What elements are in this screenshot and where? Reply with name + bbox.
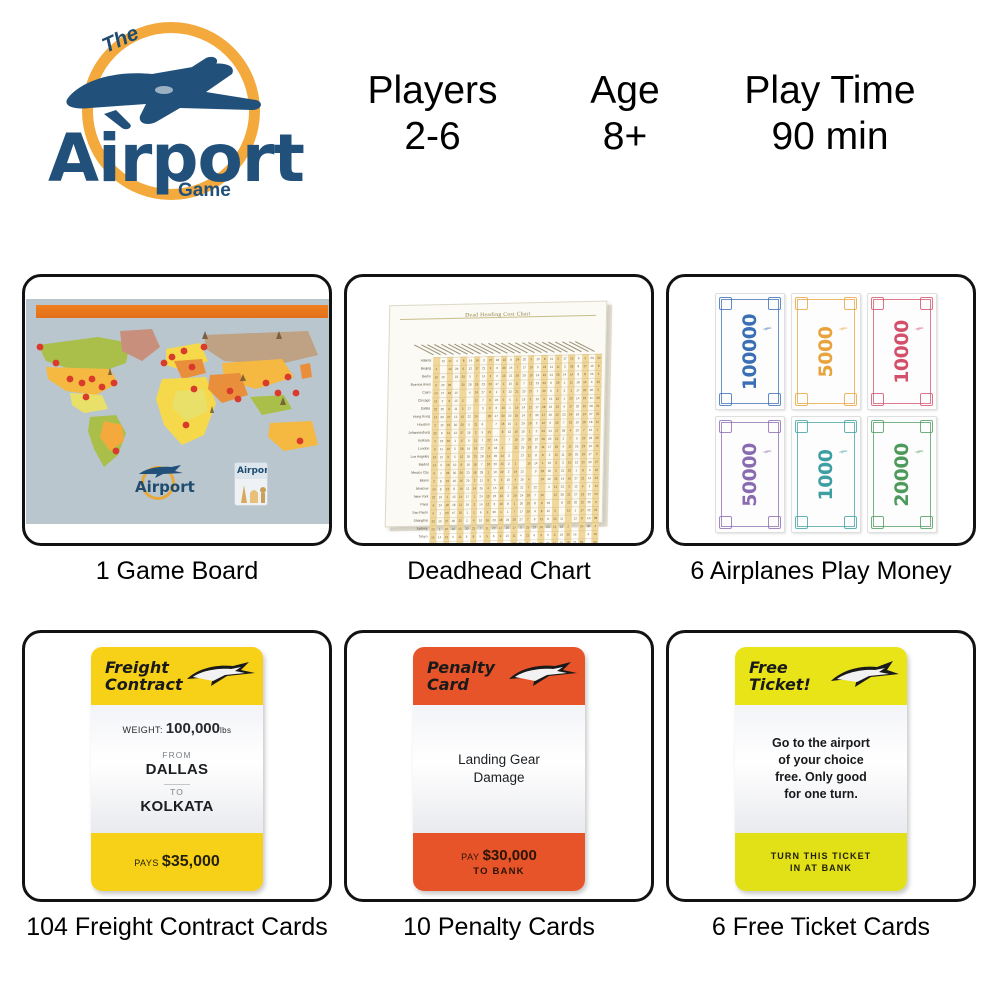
chart-cell: 16 xyxy=(449,541,456,546)
component-deadhead-chart: Dead Heading Cost Chart Atlanta151748141… xyxy=(344,274,654,586)
penalty-cards-panel: Penalty Card Landing Gear Damage PAY $30… xyxy=(344,630,654,902)
freight-from-label: FROM xyxy=(162,750,191,760)
stat-players-label: Players xyxy=(320,68,545,114)
board-destination-card: Airport xyxy=(234,462,268,506)
component-penalty-cards: Penalty Card Landing Gear Damage PAY $30… xyxy=(344,630,654,942)
airplane-icon xyxy=(762,449,772,455)
airplane-icon xyxy=(914,326,924,332)
bill-corner xyxy=(719,516,732,529)
chart-cell: 28 xyxy=(592,514,599,522)
chart-row-label: Toronto xyxy=(389,541,429,546)
freight-pays-label: PAYS xyxy=(134,858,159,868)
freight-contract-card: Freight Contract WEIGHT: 100,000lbs FROM… xyxy=(91,647,263,891)
money-bill: 50000 xyxy=(715,416,785,533)
bill-corner xyxy=(920,516,933,529)
chart-cell: 22 xyxy=(594,410,601,418)
board-top-bar xyxy=(36,305,328,318)
game-board-panel: Airport Airport xyxy=(22,274,332,546)
chart-column-headers xyxy=(433,322,602,356)
bill-corner xyxy=(795,297,808,310)
freight-divider xyxy=(164,784,190,785)
money-bill: 10000 xyxy=(867,293,937,410)
component-free-ticket-cards: Free Ticket! Go to the airport of your c… xyxy=(666,630,976,942)
chart-sheet: Dead Heading Cost Chart Atlanta151748141… xyxy=(385,301,608,528)
chart-cell: 8 xyxy=(595,362,602,370)
penalty-card-header: Penalty Card xyxy=(413,647,585,705)
free-ticket-card-body: Go to the airport of your choice free. O… xyxy=(735,705,907,833)
chart-cell: 8 xyxy=(483,540,490,546)
money-bill: 100000 xyxy=(715,293,785,410)
bill-corner xyxy=(844,420,857,433)
chart-cell: 10 xyxy=(593,466,600,474)
board-logo-text: Airport xyxy=(135,478,195,496)
chart-cell: 21 xyxy=(594,402,601,410)
bill-corner xyxy=(719,297,732,310)
bill-corner xyxy=(795,393,808,406)
penalty-card-footer: PAY $30,000 TO BANK xyxy=(413,833,585,891)
component-freight-contract: Freight Contract WEIGHT: 100,000lbs FROM… xyxy=(22,630,332,942)
chart-cell: 1 xyxy=(594,426,601,434)
chart-cell: 5 xyxy=(595,386,602,394)
penalty-card: Penalty Card Landing Gear Damage PAY $30… xyxy=(413,647,585,891)
bill-corner xyxy=(768,516,781,529)
caption-play-money: 6 Airplanes Play Money xyxy=(666,556,976,586)
chart-cell: 13 xyxy=(443,541,450,546)
free-ticket-card: Free Ticket! Go to the airport of your c… xyxy=(735,647,907,891)
chart-cell: 14 xyxy=(593,482,600,490)
freight-card-body: WEIGHT: 100,000lbs FROM DALLAS TO KOLKAT… xyxy=(91,705,263,833)
money-bill: 20000 xyxy=(867,416,937,533)
chart-cell: 28 xyxy=(470,540,477,546)
chart-cell: 5 xyxy=(463,541,470,546)
brand-logo: The Airport Game xyxy=(30,12,310,217)
freight-pays-value: $35,000 xyxy=(162,853,220,870)
caption-game-board: 1 Game Board xyxy=(22,556,332,586)
bill-corner xyxy=(795,420,808,433)
bill-corner xyxy=(920,297,933,310)
chart-cell: 22 xyxy=(592,538,599,546)
game-stats: Players 2-6 Age 8+ Play Time 90 min xyxy=(320,68,960,178)
airplane-icon xyxy=(838,449,848,455)
logo-airport-text: Airport xyxy=(48,120,304,197)
chart-grid: Atlanta151748141632718139242031582151715… xyxy=(390,354,602,521)
bill-corner xyxy=(768,393,781,406)
chart-cell: 4 xyxy=(592,522,599,530)
airplane-icon xyxy=(838,326,848,332)
bill-corner xyxy=(844,297,857,310)
airplane-icon xyxy=(829,659,901,693)
logo-game-text: Game xyxy=(178,180,231,202)
bill-corner xyxy=(871,297,884,310)
freight-weight: WEIGHT: 100,000lbs xyxy=(123,720,232,737)
bill-corner xyxy=(719,393,732,406)
stat-play-time-value: 90 min xyxy=(700,114,960,160)
bill-denomination: 1000 xyxy=(815,449,837,500)
freight-card-header: Freight Contract xyxy=(91,647,263,705)
free-ticket-foot-text: TURN THIS TICKET IN AT BANK xyxy=(771,850,872,874)
bill-corner xyxy=(844,393,857,406)
stat-age-value: 8+ xyxy=(550,114,700,160)
bill-corner xyxy=(795,516,808,529)
freight-pays: PAYS $35,000 xyxy=(134,853,220,871)
money-bill: 1000 xyxy=(791,416,861,533)
caption-freight-contract: 104 Freight Contract Cards xyxy=(22,912,332,942)
penalty-card-body: Landing Gear Damage xyxy=(413,705,585,833)
stat-age-label: Age xyxy=(550,68,700,114)
stat-players-value: 2-6 xyxy=(320,114,545,160)
chart-cell: 23 xyxy=(593,474,600,482)
airplane-icon xyxy=(507,659,579,693)
freight-weight-value: 100,000 xyxy=(166,720,220,737)
component-play-money: 10000050001000050000100020000 6 Airplane… xyxy=(666,274,976,586)
chart-cell: 15 xyxy=(490,540,497,546)
freight-weight-unit: lbs xyxy=(220,726,231,735)
board-airport-logo: Airport xyxy=(131,462,201,502)
chart-cell: 30 xyxy=(595,354,602,362)
components-grid: Airport Airport 1 Game Board xyxy=(0,250,987,985)
freight-from-city: DALLAS xyxy=(146,761,209,778)
chart-cell: 19 xyxy=(592,530,599,538)
penalty-pay: PAY $30,000 xyxy=(461,847,537,864)
landmarks-icon xyxy=(235,475,268,505)
free-ticket-card-title: Free Ticket! xyxy=(749,659,811,693)
stat-players: Players 2-6 xyxy=(320,68,545,160)
chart-cell: 29 xyxy=(594,434,601,442)
bill-corner xyxy=(768,420,781,433)
bill-denomination: 50000 xyxy=(739,443,761,507)
chart-cell: 27 xyxy=(593,458,600,466)
chart-cell: 19 xyxy=(456,541,463,546)
stat-age: Age 8+ xyxy=(550,68,700,160)
bill-corner xyxy=(920,393,933,406)
chart-cell: 2 xyxy=(593,450,600,458)
bill-denomination: 10000 xyxy=(891,320,913,384)
component-game-board: Airport Airport 1 Game Board xyxy=(22,274,332,586)
bill-denomination: 20000 xyxy=(891,443,913,507)
freight-card-title: Freight Contract xyxy=(105,659,183,693)
penalty-card-text: Landing Gear Damage xyxy=(458,751,540,787)
free-ticket-card-header: Free Ticket! xyxy=(735,647,907,705)
penalty-pay-value: $30,000 xyxy=(483,847,537,864)
airplane-icon xyxy=(185,659,257,693)
penalty-pay-to: TO BANK xyxy=(473,866,525,877)
freight-weight-label: WEIGHT: xyxy=(123,725,163,735)
airplane-icon xyxy=(762,326,772,332)
header: The Airport Game Players 2-6 Age 8+ Play… xyxy=(0,0,987,245)
freight-contract-panel: Freight Contract WEIGHT: 100,000lbs FROM… xyxy=(22,630,332,902)
bill-denomination: 5000 xyxy=(815,326,837,377)
free-ticket-card-footer: TURN THIS TICKET IN AT BANK xyxy=(735,833,907,891)
penalty-card-title: Penalty Card xyxy=(427,659,495,693)
penalty-pay-label: PAY xyxy=(461,852,479,862)
chart-cell: 16 xyxy=(594,442,601,450)
bill-corner xyxy=(844,516,857,529)
bill-corner xyxy=(871,516,884,529)
bill-corner xyxy=(719,420,732,433)
free-ticket-cards-panel: Free Ticket! Go to the airport of your c… xyxy=(666,630,976,902)
stat-play-time: Play Time 90 min xyxy=(700,68,960,160)
bill-corner xyxy=(768,297,781,310)
play-money-image: 10000050001000050000100020000 xyxy=(715,293,937,533)
bill-corner xyxy=(871,393,884,406)
play-money-panel: 10000050001000050000100020000 xyxy=(666,274,976,546)
free-ticket-card-text: Go to the airport of your choice free. O… xyxy=(772,735,870,803)
airplane-icon xyxy=(914,449,924,455)
deadhead-chart-image: Dead Heading Cost Chart Atlanta151748141… xyxy=(369,289,635,537)
deadhead-chart-panel: Dead Heading Cost Chart Atlanta151748141… xyxy=(344,274,654,546)
stat-play-time-label: Play Time xyxy=(700,68,960,114)
chart-cell: 30 xyxy=(595,378,602,386)
game-board-image: Airport Airport xyxy=(26,299,330,524)
chart-cell: 12 xyxy=(594,418,601,426)
chart-cell: 28 xyxy=(595,394,602,402)
freight-to-city: KOLKATA xyxy=(140,798,213,815)
chart-cell: 26 xyxy=(429,541,436,546)
chart-cell: 3 xyxy=(592,498,599,506)
freight-card-footer: PAYS $35,000 xyxy=(91,833,263,891)
caption-penalty-cards: 10 Penalty Cards xyxy=(344,912,654,942)
freight-to-label: TO xyxy=(170,787,184,797)
world-map-graphic xyxy=(26,321,330,481)
chart-cell: 16 xyxy=(477,540,484,546)
chart-cell: 21 xyxy=(592,506,599,514)
bill-denomination: 100000 xyxy=(739,313,761,389)
chart-cell: 29 xyxy=(436,541,443,546)
caption-free-ticket-cards: 6 Free Ticket Cards xyxy=(666,912,976,942)
bill-corner xyxy=(920,420,933,433)
chart-cell: 24 xyxy=(593,490,600,498)
bill-corner xyxy=(871,420,884,433)
caption-deadhead-chart: Deadhead Chart xyxy=(344,556,654,586)
money-bill: 5000 xyxy=(791,293,861,410)
chart-cell: 4 xyxy=(595,370,602,378)
